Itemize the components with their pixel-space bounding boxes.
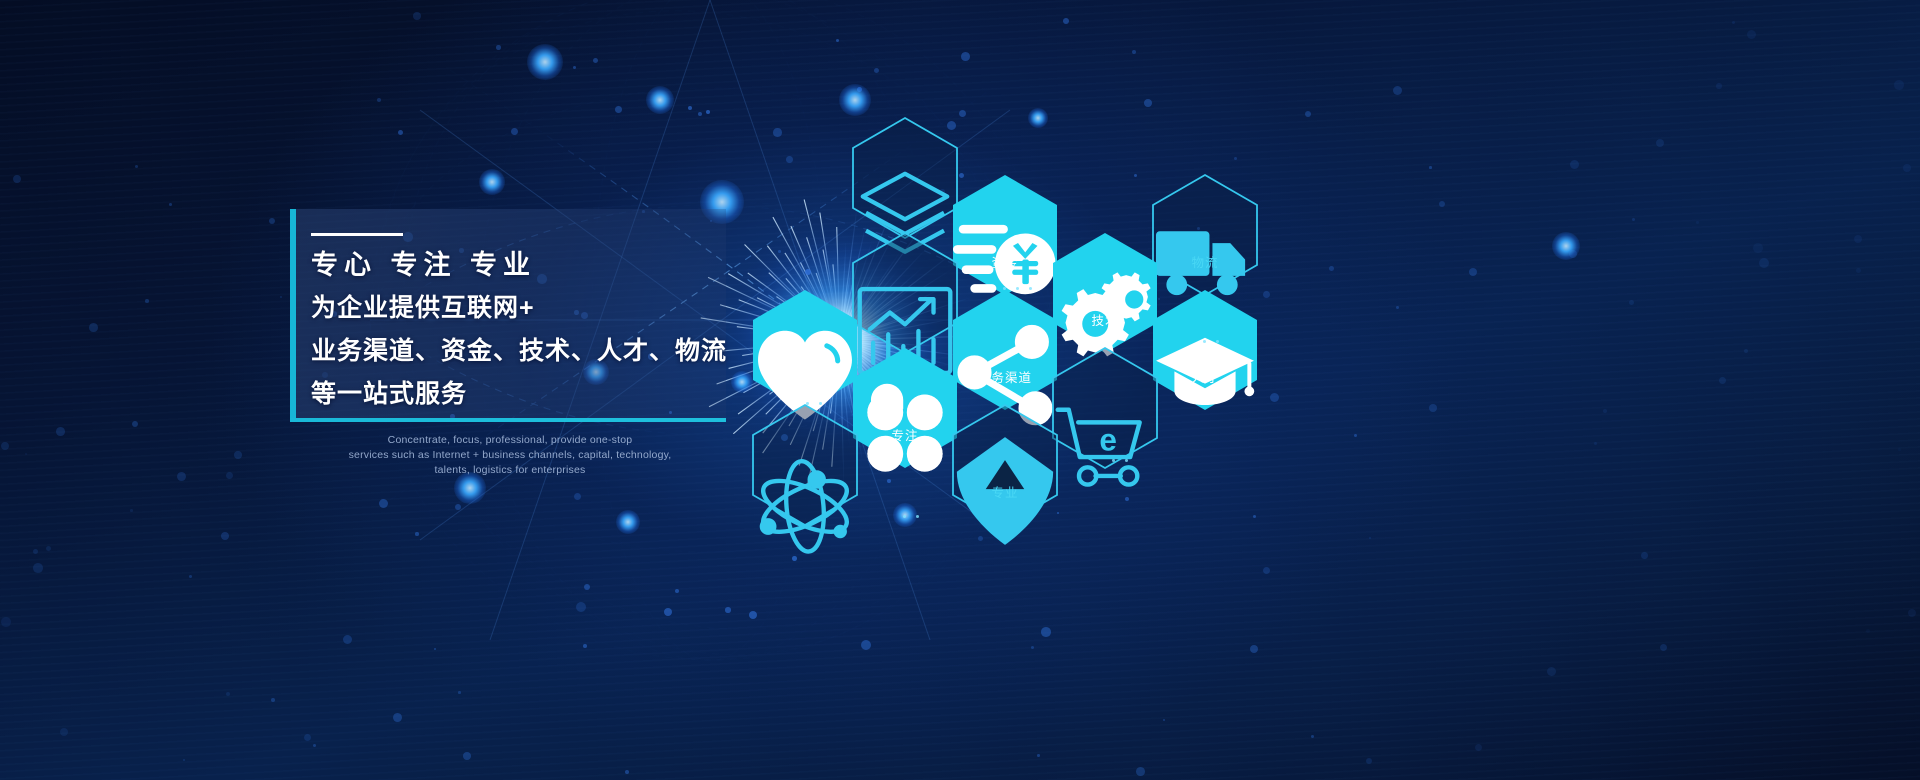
hexagon-shape: [1153, 175, 1257, 295]
seam-dot: [1003, 287, 1006, 290]
hexagon-shape: [1153, 290, 1257, 410]
seam-dot: [806, 402, 809, 405]
hexagon-layers[interactable]: [853, 118, 957, 238]
seam-dot: [1216, 340, 1219, 343]
seam-dot: [1203, 340, 1206, 343]
hexagon-cluster: 资金 物流 技术 专心 业务渠道: [0, 0, 1920, 780]
hexagon-shape: [1053, 233, 1157, 353]
seam-dot: [903, 515, 906, 518]
hexagon-shape: [753, 290, 857, 410]
hexagon-chart[interactable]: [853, 233, 957, 353]
hexagon-shape: [853, 118, 957, 238]
hexagon-ecommerce[interactable]: e: [1053, 348, 1157, 468]
hexagon-shape: [953, 175, 1057, 295]
hexagon-shape: [853, 348, 957, 468]
hexagon-channels[interactable]: 业务渠道: [953, 290, 1057, 410]
hexagon-logistics[interactable]: 物流: [1153, 175, 1257, 295]
seam-dot: [819, 402, 822, 405]
hexagon-pro[interactable]: 专业: [953, 405, 1057, 525]
hexagon-atom[interactable]: [753, 405, 857, 525]
hexagon-focus[interactable]: 专注: [853, 348, 957, 468]
seam-dot: [1125, 459, 1128, 462]
hexagon-shape: [1053, 348, 1157, 468]
hexagon-shape: [853, 233, 957, 353]
hexagon-tech[interactable]: 技术: [1053, 233, 1157, 353]
hexagon-funds[interactable]: 资金: [953, 175, 1057, 295]
seam-dot: [916, 515, 919, 518]
seam-dot: [1016, 287, 1019, 290]
hexagon-shape: [953, 405, 1057, 525]
hexagon-heart[interactable]: 专心: [753, 290, 857, 410]
hexagon-shape: [753, 405, 857, 525]
seam-dot: [1029, 287, 1032, 290]
hexagon-shape: [953, 290, 1057, 410]
seam-dot: [1112, 459, 1115, 462]
hexagon-talent[interactable]: 人才: [1153, 290, 1257, 410]
banner-root: 专心 专注 专业 为企业提供互联网+ 业务渠道、资金、技术、人才、物流 等一站式…: [0, 0, 1920, 780]
